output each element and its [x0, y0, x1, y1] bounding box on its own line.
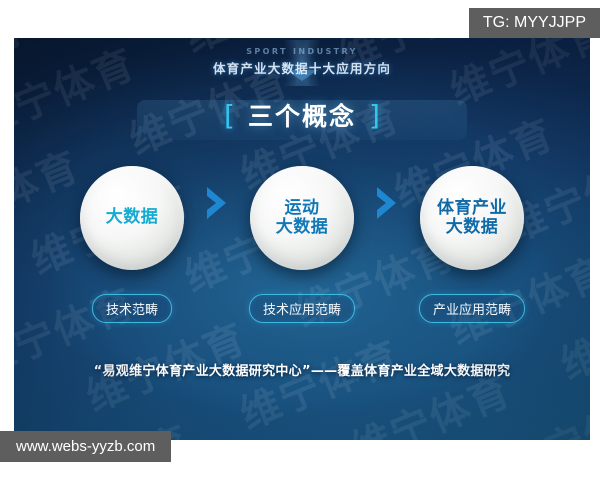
bracket-right: ] [369, 102, 380, 130]
pill-slot-2: 技术应用范畴 [250, 294, 354, 323]
title-text: 三个概念 [248, 104, 356, 129]
concept-circle-1: 大数据 [80, 166, 184, 270]
category-pill-3[interactable]: 产业应用范畴 [419, 294, 525, 323]
footer-note: “易观维宁体育产业大数据研究中心”——覆盖体育产业全域大数据研究 [14, 360, 590, 379]
pill-slot-3: 产业应用范畴 [420, 294, 524, 323]
concept-node-3: 体育产业 大数据 [420, 166, 524, 270]
concept-circle-3: 体育产业 大数据 [420, 166, 524, 270]
concept-circle-3-line-1: 体育产业 [437, 199, 507, 218]
category-pill-row: 技术范畴 技术应用范畴 产业应用范畴 [14, 294, 590, 323]
chevron-right-icon [374, 183, 400, 223]
watermark-text: 维宁体育 [346, 371, 517, 440]
concept-circle-2-line-1: 运动 [285, 199, 320, 218]
slide-header: SPORT INDUSTRY 体育产业大数据十大应用方向 [14, 40, 590, 86]
concept-circle-2-line-2: 大数据 [276, 218, 329, 237]
tg-handle-badge: TG: MYYJJPP [469, 8, 600, 38]
slide-canvas: 维宁体育维宁体育维宁体育维宁体育维宁体育 维宁体育维宁体育维宁体育维宁体育维宁体… [14, 38, 590, 440]
header-chinese-title: 体育产业大数据十大应用方向 [14, 58, 590, 77]
concept-circle-3-line-2: 大数据 [446, 218, 499, 237]
category-pill-2[interactable]: 技术应用范畴 [249, 294, 355, 323]
concept-node-2: 运动 大数据 [250, 166, 354, 270]
concept-circle-1-line-1: 大数据 [106, 208, 159, 227]
website-watermark-badge: www.webs-yyzb.com [0, 431, 171, 462]
chevron-right-icon [204, 183, 230, 223]
pill-slot-1: 技术范畴 [80, 294, 184, 323]
concept-flow: 大数据 运动 大数据 体育产业 大数据 [14, 166, 590, 270]
watermark-text: 维宁体育 [235, 336, 406, 436]
page-title: [ 三个概念 ] [14, 102, 590, 130]
bracket-left: [ [224, 102, 235, 130]
concept-node-1: 大数据 [80, 166, 184, 270]
concept-circle-2: 运动 大数据 [250, 166, 354, 270]
watermark-text: 维宁体育 [500, 388, 590, 440]
header-english-title: SPORT INDUSTRY [14, 47, 590, 56]
category-pill-1[interactable]: 技术范畴 [92, 294, 172, 323]
